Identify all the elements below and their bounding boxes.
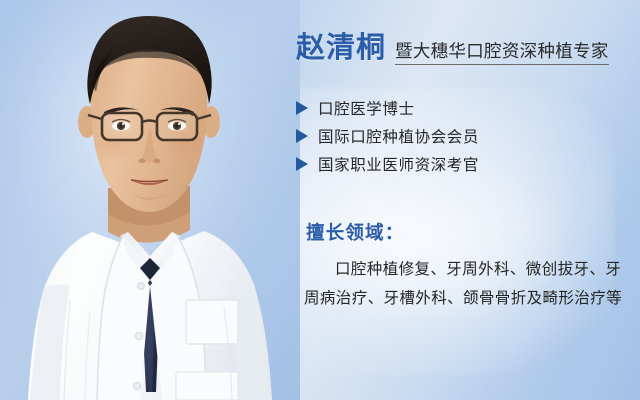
profile-content: 赵清桐 暨大穗华口腔资深种植专家 口腔医学博士 国际口腔种植协会会员 国家职业医… [292, 0, 640, 400]
specialty-text: 口腔种植修复、牙周外科、微创拔牙、牙周病治疗、牙槽外科、颌骨骨折及畸形治疗等 [304, 255, 634, 313]
specialty-heading: 擅长领域： [306, 219, 405, 245]
credentials-list: 口腔医学博士 国际口腔种植协会会员 国家职业医师资深考官 [296, 94, 479, 178]
triangle-bullet-icon [296, 157, 308, 171]
triangle-bullet-icon [296, 101, 308, 115]
doctor-photo [0, 0, 300, 400]
profile-title-row: 赵清桐 暨大穗华口腔资深种植专家 [296, 33, 609, 65]
list-item: 口腔医学博士 [296, 94, 479, 122]
credential-label: 国家职业医师资深考官 [318, 153, 479, 175]
credential-label: 国际口腔种植协会会员 [318, 125, 479, 147]
credential-label: 口腔医学博士 [318, 97, 415, 119]
triangle-bullet-icon [296, 129, 308, 143]
list-item: 国际口腔种植协会会员 [296, 122, 479, 150]
list-item: 国家职业医师资深考官 [296, 150, 479, 178]
doctor-subtitle: 暨大穗华口腔资深种植专家 [395, 44, 609, 65]
doctor-profile-banner: 赵清桐 暨大穗华口腔资深种植专家 口腔医学博士 国际口腔种植协会会员 国家职业医… [0, 0, 640, 400]
doctor-name: 赵清桐 [296, 33, 386, 62]
